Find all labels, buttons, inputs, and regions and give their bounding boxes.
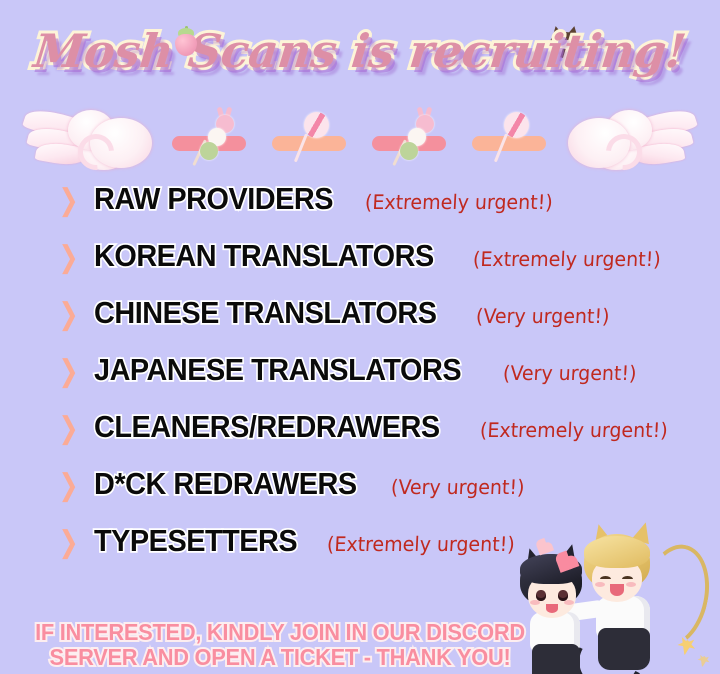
- list-item: ❯ KOREAN TRANSLATORS (Extremely urgent!): [0, 239, 720, 296]
- chevron-right-icon: ❯: [59, 357, 79, 387]
- blonde-catboy-eye-right: [622, 576, 633, 582]
- role-urgency: (Very urgent!): [390, 476, 525, 498]
- role-urgency: (Extremely urgent!): [479, 419, 668, 441]
- role-urgency: (Very urgent!): [476, 305, 611, 327]
- dango-skewer-icon: [396, 112, 436, 168]
- role-name: TYPESETTERS: [94, 524, 297, 558]
- footer-call-to-action: IF INTERESTED, KINDLY JOIN IN OUR DISCOR…: [14, 620, 546, 670]
- role-urgency: (Extremely urgent!): [326, 533, 515, 555]
- lollipop-candy: [504, 112, 529, 138]
- dango-ball-green: [400, 142, 418, 160]
- blonde-catboy-mouth: [610, 584, 624, 596]
- page-title: Mosh Scans is recruiting!: [31, 16, 690, 86]
- dark-catboy-pants: [532, 644, 580, 674]
- chevron-right-icon: ❯: [59, 186, 79, 216]
- role-name: JAPANESE TRANSLATORS: [94, 353, 461, 387]
- dark-catboy-eye-left: [536, 590, 546, 601]
- list-item: ❯ CLEANERS/REDRAWERS (Extremely urgent!): [0, 410, 720, 467]
- dark-catboy-eye-right: [558, 590, 568, 601]
- dark-catboy-mouth: [546, 604, 558, 613]
- lollipop-stick: [294, 133, 308, 162]
- role-name: CHINESE TRANSLATORS: [94, 296, 437, 330]
- chevron-right-icon: ❯: [59, 471, 79, 501]
- list-item: ❯ RAW PROVIDERS (Extremely urgent!): [0, 182, 720, 239]
- blonde-catboy-blush-left: [595, 582, 605, 587]
- lollipop-stick: [494, 133, 508, 162]
- dango-skewer-icon: [196, 112, 236, 168]
- dango-ball-green: [200, 142, 218, 160]
- chevron-right-icon: ❯: [59, 414, 79, 444]
- role-urgency: (Very urgent!): [502, 362, 637, 384]
- dark-catboy-blush-right: [564, 600, 574, 605]
- blonde-catboy-eye-left: [600, 576, 611, 582]
- star-icon: [677, 638, 696, 649]
- chevron-right-icon: ❯: [59, 528, 79, 558]
- footer-line-1: IF INTERESTED, KINDLY JOIN IN OUR DISCOR…: [14, 620, 546, 645]
- role-name: RAW PROVIDERS: [94, 182, 333, 216]
- lollipop-candy: [304, 112, 329, 138]
- lollipop-icon: [496, 110, 536, 166]
- winged-cloud-right-icon: [562, 104, 702, 176]
- blonde-catboy-blush-right: [626, 582, 636, 587]
- chevron-right-icon: ❯: [59, 243, 79, 273]
- role-name: CLEANERS/REDRAWERS: [94, 410, 440, 444]
- strawberry-body: [175, 34, 197, 56]
- footer-line-2: SERVER AND OPEN A TICKET - THANK YOU!: [14, 645, 546, 670]
- blonde-catboy-bangs: [584, 536, 650, 568]
- role-name: D*CK REDRAWERS: [94, 467, 357, 501]
- list-item: ❯ D*CK REDRAWERS (Very urgent!): [0, 467, 720, 524]
- star-icon: [698, 655, 711, 662]
- decorative-divider: [0, 100, 720, 178]
- lollipop-icon: [296, 110, 336, 166]
- winged-cloud-left-icon: [18, 104, 158, 176]
- role-urgency: (Extremely urgent!): [473, 248, 662, 270]
- role-urgency: (Extremely urgent!): [365, 191, 554, 213]
- strawberry-icon: [173, 26, 199, 56]
- role-name: KOREAN TRANSLATORS: [94, 239, 434, 273]
- title-area: Mosh Scans is recruiting!: [0, 16, 720, 96]
- list-item: ❯ CHINESE TRANSLATORS (Very urgent!): [0, 296, 720, 353]
- list-item: ❯ JAPANESE TRANSLATORS (Very urgent!): [0, 353, 720, 410]
- recruitment-poster: Mosh Scans is recruiting!: [0, 0, 720, 674]
- two-chibi-catboys-illustration: [516, 520, 720, 674]
- chevron-right-icon: ❯: [59, 300, 79, 330]
